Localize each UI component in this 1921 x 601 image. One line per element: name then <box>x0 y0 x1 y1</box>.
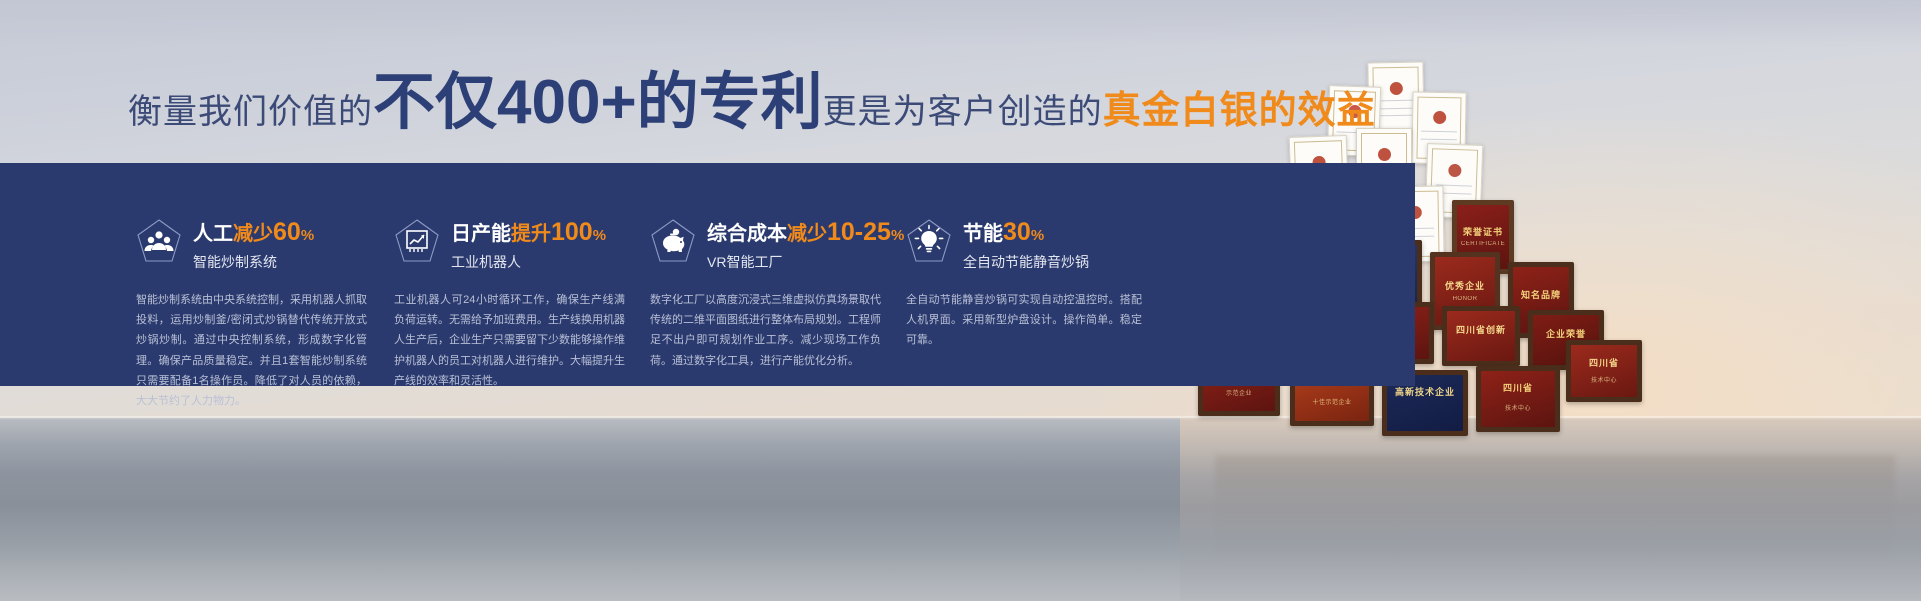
feature-subtitle: 全自动节能静音炒锅 <box>963 252 1089 272</box>
feature-titles: 日产能提升100% 工业机器人 <box>451 217 606 272</box>
feature-subtitle: 工业机器人 <box>451 252 606 272</box>
feature-body: 数字化工厂以高度沉浸式三维虚拟仿真场景取代传统的二维平面图纸进行整体布局规划。工… <box>650 290 881 371</box>
feature-title: 日产能提升100% <box>451 223 606 245</box>
headline-highlight: 真金白银的效益 <box>1103 79 1376 134</box>
feature-item-energy: 节能30% 全自动节能静音炒锅 全自动节能静音炒锅可实现自动控温控时。搭配人机界… <box>906 217 1206 386</box>
feature-titles: 综合成本减少10-25% VR智能工厂 <box>707 217 904 272</box>
headline-lead: 衡量我们价值的 <box>128 84 373 133</box>
feature-titles: 节能30% 全自动节能静音炒锅 <box>963 217 1089 272</box>
feature-title: 人工减少60% <box>193 223 314 245</box>
award-plaque: 四川省 技术中心 <box>1566 340 1642 402</box>
feature-subtitle: VR智能工厂 <box>707 252 904 272</box>
feature-title: 综合成本减少10-25% <box>707 223 904 245</box>
feature-body: 工业机器人可24小时循环工作，确保生产线满负荷运转。无需给予加班费用。生产线换用… <box>394 290 625 392</box>
headline-middle: 更是为客户创造的 <box>823 84 1103 133</box>
feature-item-cost: 综合成本减少10-25% VR智能工厂 数字化工厂以高度沉浸式三维虚拟仿真场景取… <box>650 217 906 386</box>
lightbulb-icon <box>906 218 952 266</box>
features-list: 人工减少60% 智能炒制系统 智能炒制系统由中央系统控制，采用机器人抓取投料，运… <box>0 163 1415 386</box>
feature-item-labor: 人工减少60% 智能炒制系统 智能炒制系统由中央系统控制，采用机器人抓取投料，运… <box>136 217 394 386</box>
feature-subtitle: 智能炒制系统 <box>193 252 314 272</box>
feature-header: 日产能提升100% 工业机器人 <box>394 217 650 272</box>
feature-titles: 人工减少60% 智能炒制系统 <box>193 217 314 272</box>
page-headline: 衡量我们价值的 不仅400+的专利 更是为客户创造的 真金白银的效益 <box>128 72 1376 134</box>
feature-body: 智能炒制系统由中央系统控制，采用机器人抓取投料，运用炒制釜/密闭式炒锅替代传统开… <box>136 290 367 412</box>
feature-header: 人工减少60% 智能炒制系统 <box>136 217 394 272</box>
award-plaque: 四川省 技术中心 <box>1476 366 1560 432</box>
people-group-icon <box>136 218 182 266</box>
award-plaque: 四川省创新 <box>1442 306 1520 366</box>
piggy-bank-icon <box>650 218 696 266</box>
feature-body: 全自动节能静音炒锅可实现自动控温控时。搭配人机界面。采用新型炉盘设计。操作简单。… <box>906 290 1142 351</box>
feature-item-capacity: 日产能提升100% 工业机器人 工业机器人可24小时循环工作，确保生产线满负荷运… <box>394 217 650 386</box>
chart-growth-icon <box>394 218 440 266</box>
headline-emphasis: 不仅400+的专利 <box>373 72 823 134</box>
feature-header: 综合成本减少10-25% VR智能工厂 <box>650 217 906 272</box>
feature-header: 节能30% 全自动节能静音炒锅 <box>906 217 1206 272</box>
feature-title: 节能30% <box>963 223 1044 245</box>
